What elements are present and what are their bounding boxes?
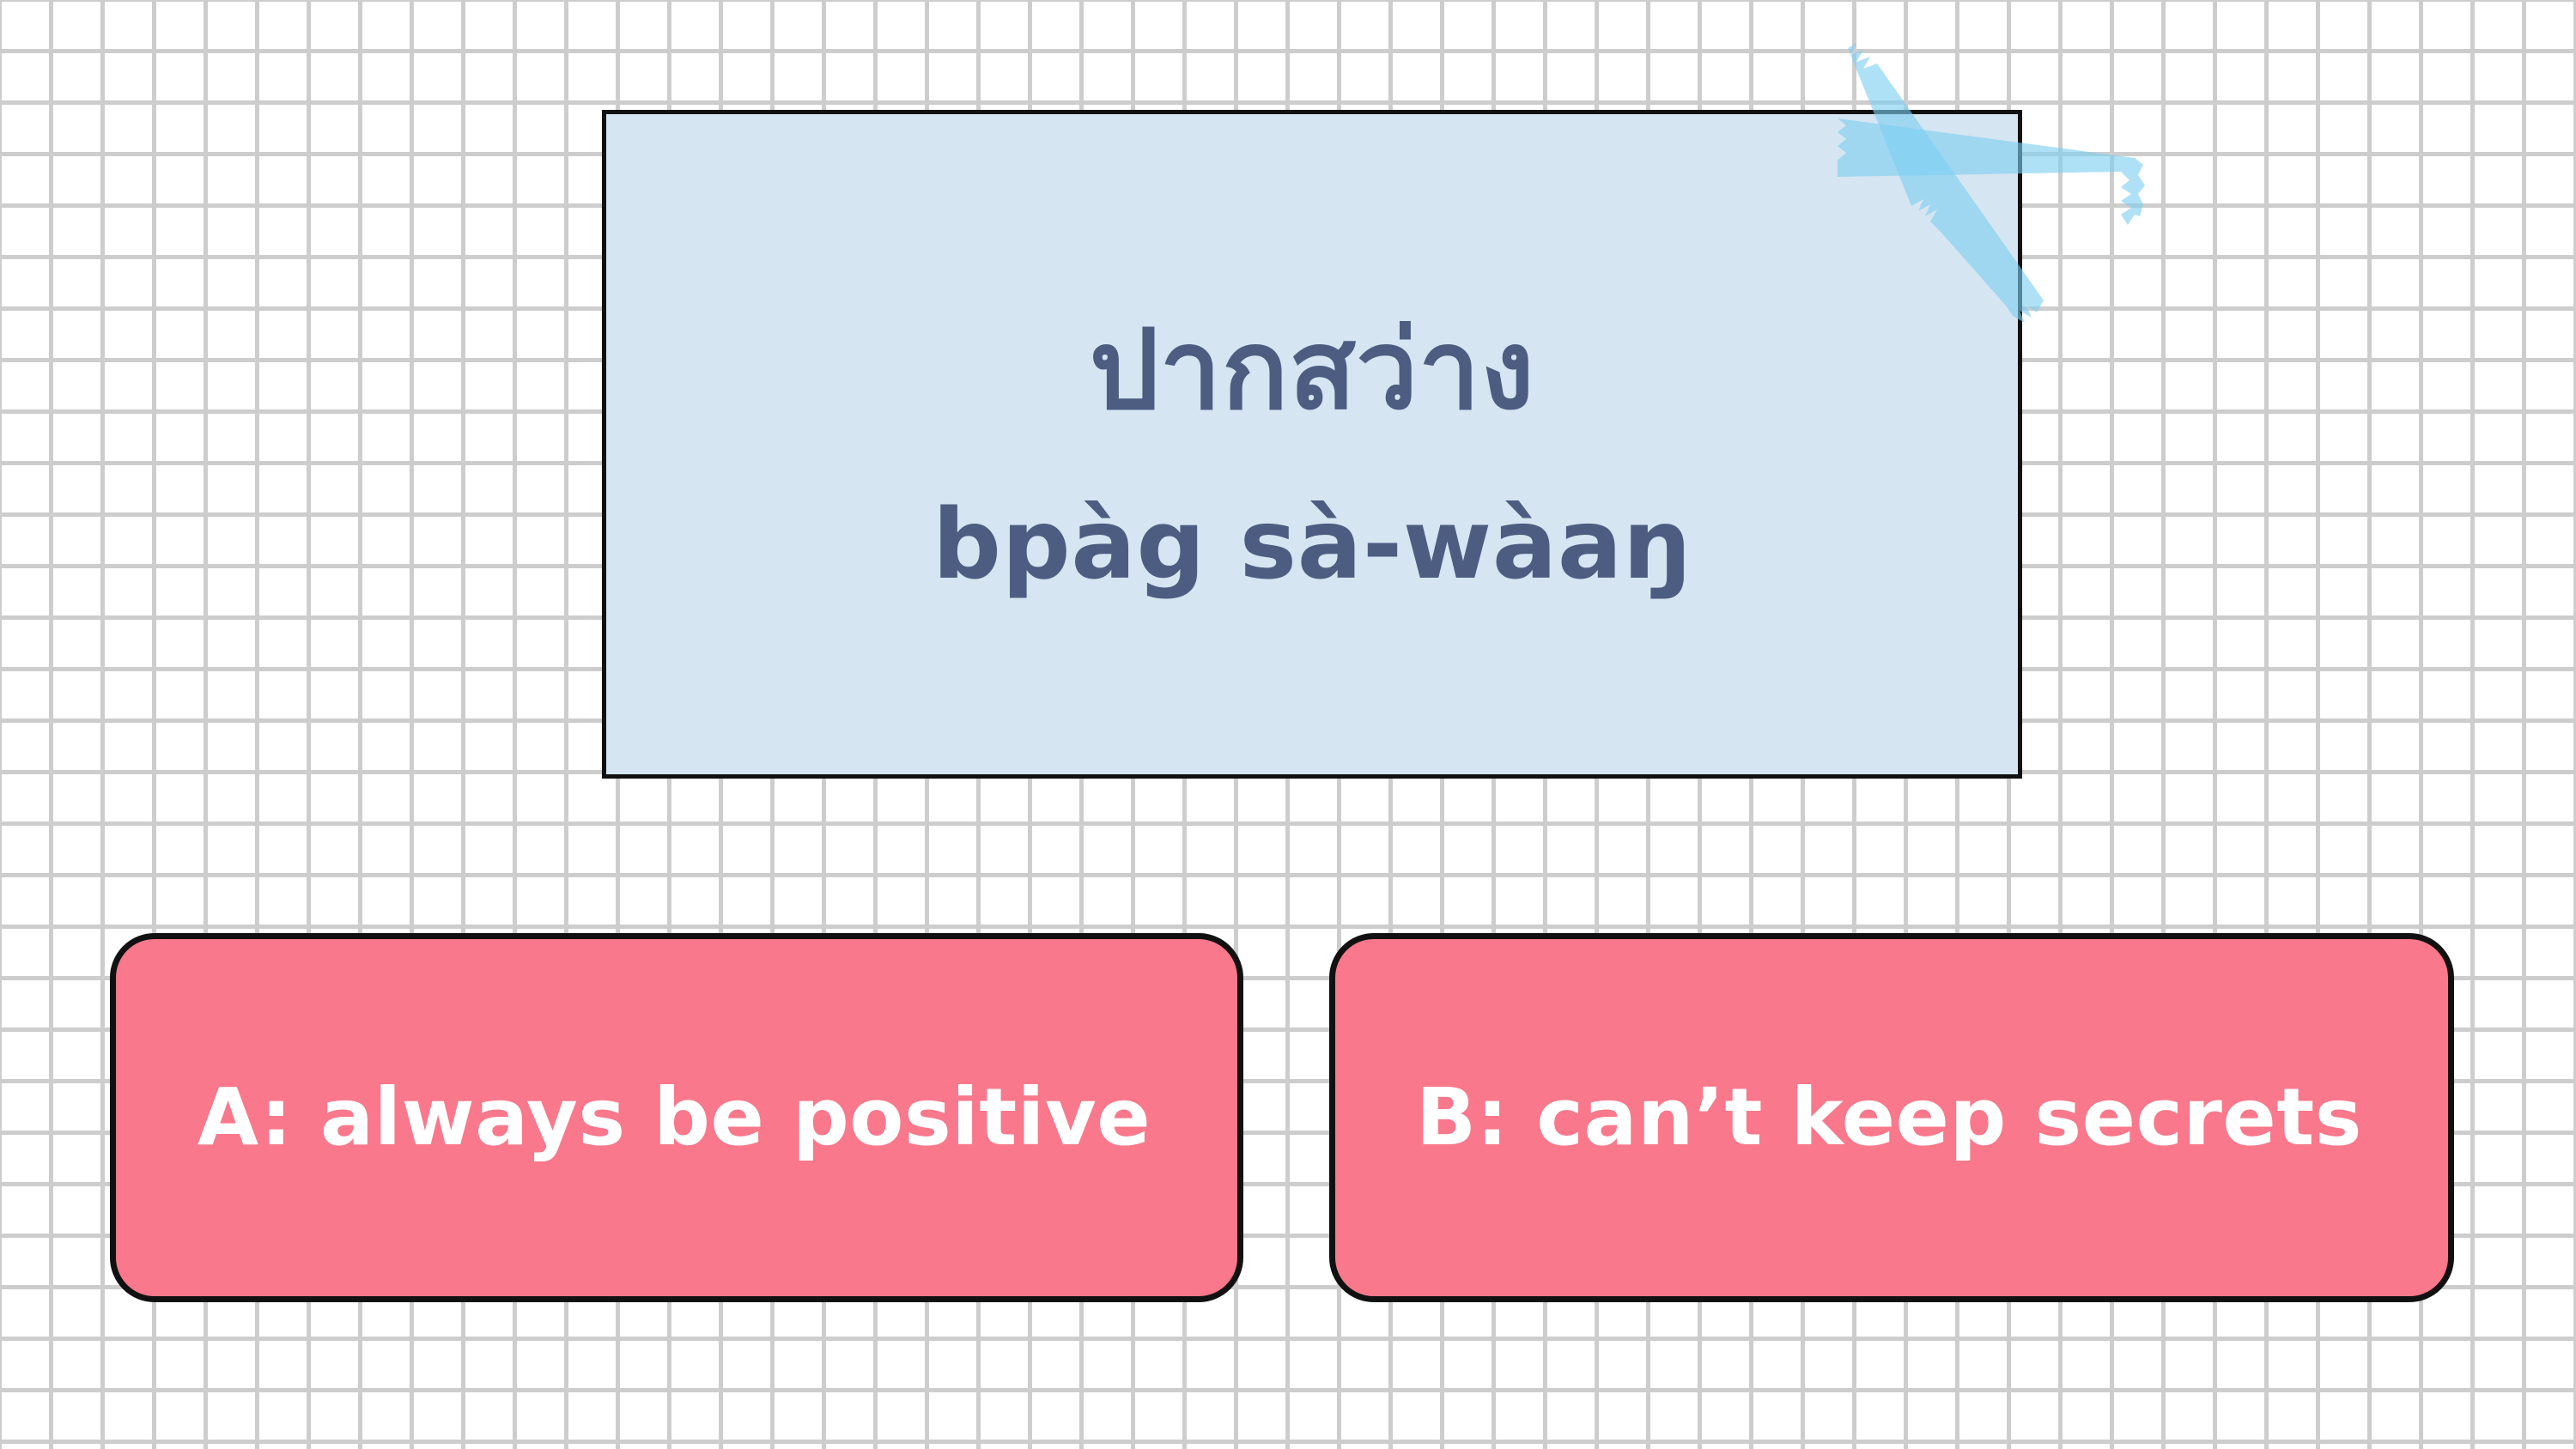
answer-option-a-button[interactable]: A: always be positive bbox=[110, 933, 1243, 1302]
answer-option-b-button[interactable]: B: can’t keep secrets bbox=[1329, 933, 2454, 1302]
prompt-thai-text: ปากสว่าง bbox=[1090, 313, 1535, 428]
quiz-page: ปากสว่าง bpàg sà-wàaŋ A: always be posit… bbox=[0, 0, 2576, 1449]
answer-option-b-label: B: can’t keep secrets bbox=[1416, 1078, 2367, 1157]
prompt-card: ปากสว่าง bpàg sà-wàaŋ bbox=[602, 110, 2022, 779]
answer-option-a-label: A: always be positive bbox=[197, 1078, 1156, 1157]
prompt-romanization-text: bpàg sà-wàaŋ bbox=[933, 495, 1692, 597]
